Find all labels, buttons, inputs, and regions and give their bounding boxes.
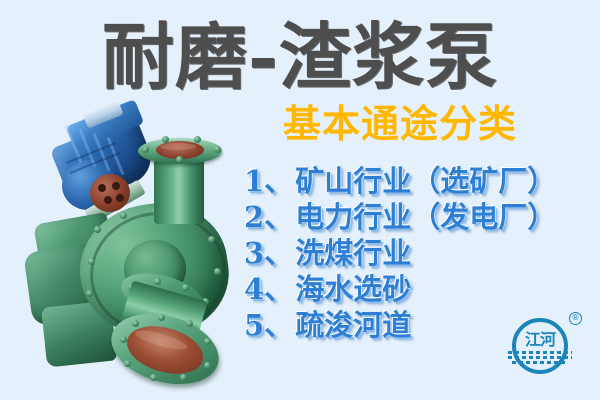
casing-bolt	[88, 258, 95, 265]
logo-wave-icon	[508, 351, 572, 354]
discharge-flange-bolt	[176, 156, 183, 163]
coupling-hole	[116, 194, 124, 202]
slurry-pump-product-image	[28, 108, 258, 370]
list-item-label: 矿山行业（选矿厂）	[295, 164, 556, 198]
suction-flange-bolt	[204, 362, 211, 369]
pump-discharge-neck	[154, 154, 204, 224]
suction-flange-bolt	[186, 320, 193, 327]
suction-flange-bolt	[150, 374, 157, 381]
suction-flange-bolt	[120, 336, 127, 343]
list-item: 4、海水选砂	[244, 271, 592, 307]
poster-canvas: 耐磨-渣浆泵 基本通途分类 1、矿山行业（选矿厂） 2、电力行业（发电厂） 3、…	[0, 0, 600, 400]
list-item: 2、电力行业（发电厂）	[244, 199, 592, 235]
registered-trademark-icon: ®	[569, 312, 582, 325]
coupling-hole	[112, 182, 120, 190]
suction-flange-bolt	[124, 360, 131, 367]
casing-bolt	[86, 290, 93, 297]
spool-flange-bolt	[154, 278, 161, 285]
discharge-flange-bolt	[142, 146, 149, 153]
coupling-hole	[98, 184, 106, 192]
suction-flange-bolt	[132, 320, 139, 327]
list-item-index: 2、	[244, 200, 293, 234]
logo-wave-icon	[512, 361, 568, 364]
page-title: 耐磨-渣浆泵	[0, 14, 600, 100]
list-item: 3、洗煤行业	[244, 235, 592, 271]
discharge-flange-bolt	[162, 136, 169, 143]
list-item-index: 1、	[244, 164, 293, 198]
coupling-hole	[104, 196, 112, 204]
pump-discharge-bore-highlight	[160, 143, 196, 150]
list-item-index: 3、	[244, 236, 293, 270]
list-item-index: 4、	[244, 272, 293, 306]
suction-flange-bolt	[204, 338, 211, 345]
page-subtitle: 基本通途分类	[240, 102, 560, 146]
casing-bolt	[214, 268, 221, 275]
casing-bolt	[208, 236, 215, 243]
suction-flange-bolt	[180, 374, 187, 381]
spool-flange-bolt	[182, 284, 189, 291]
list-item-index: 5、	[244, 308, 293, 342]
discharge-flange-bolt	[214, 146, 221, 153]
list-item-label: 海水选砂	[295, 272, 411, 306]
suction-flange-bolt	[158, 314, 165, 321]
discharge-flange-bolt	[194, 136, 201, 143]
list-item-label: 疏浚河道	[295, 308, 411, 342]
list-item-label: 洗煤行业	[295, 236, 411, 270]
logo-wave-icon	[508, 356, 572, 359]
casing-bolt	[94, 226, 101, 233]
list-item: 1、矿山行业（选矿厂）	[244, 163, 592, 199]
list-item-label: 电力行业（发电厂）	[295, 200, 556, 234]
brand-logo: 江河 ®	[506, 310, 588, 386]
casing-bolt	[120, 212, 127, 219]
logo-wordmark: 江河	[512, 332, 568, 348]
